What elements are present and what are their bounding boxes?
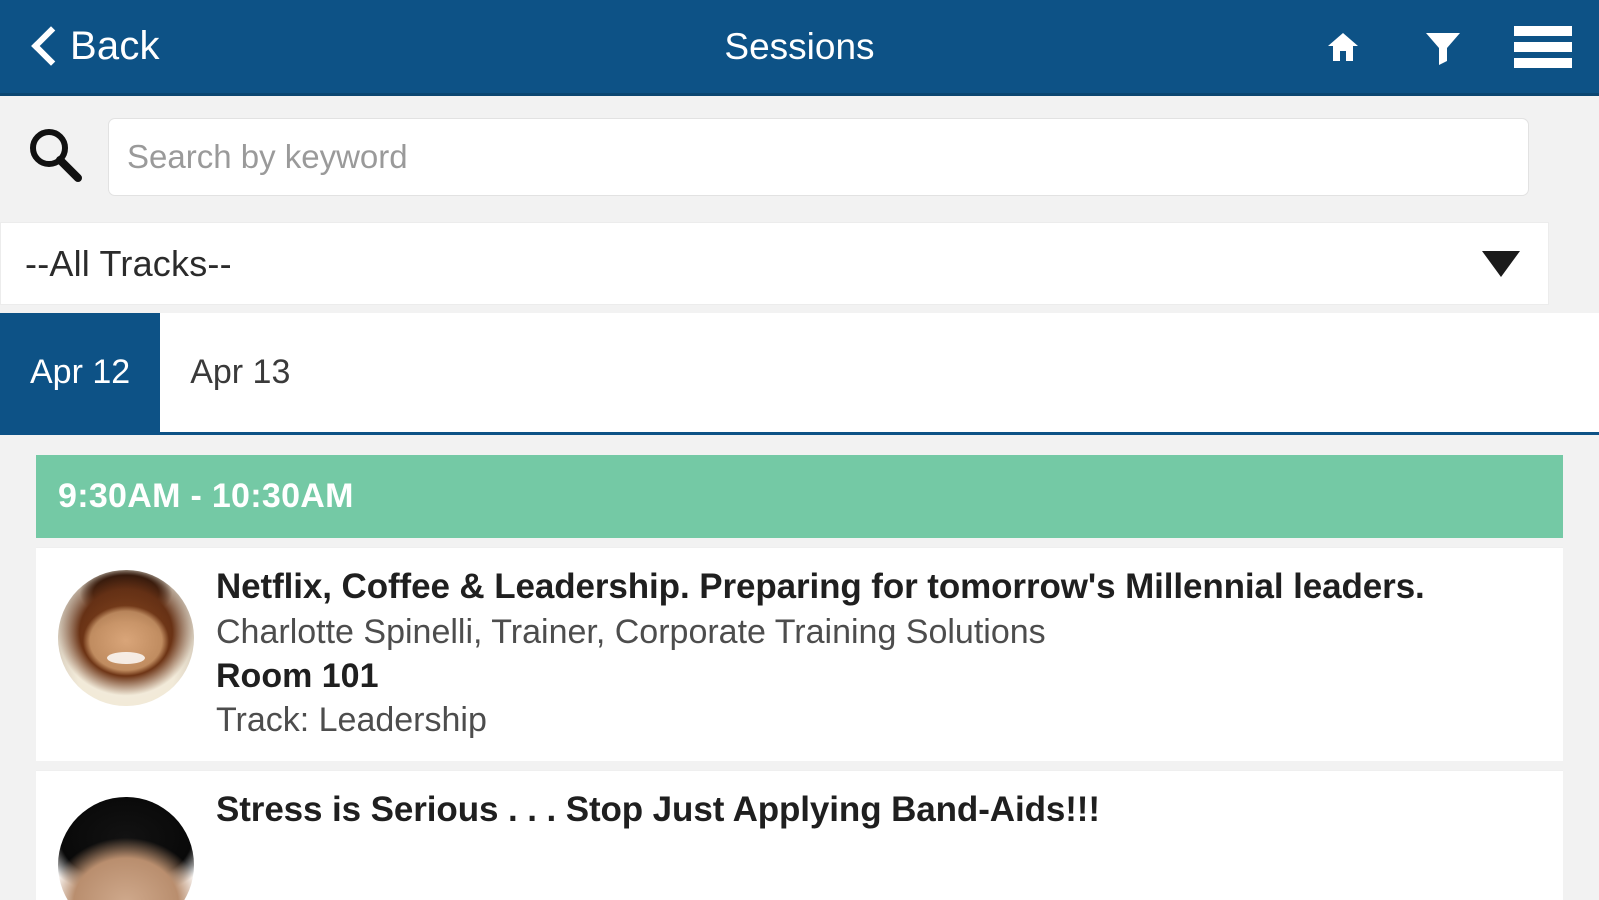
avatar-container xyxy=(36,564,216,741)
session-list: 9:30AM - 10:30AM Netflix, Coffee & Leade… xyxy=(0,436,1599,900)
chevron-down-icon xyxy=(1482,251,1520,277)
session-time-band: 9:30AM - 10:30AM xyxy=(36,455,1563,538)
home-button[interactable] xyxy=(1321,23,1365,71)
search-input[interactable] xyxy=(127,138,1510,176)
home-icon xyxy=(1326,31,1360,63)
date-tab-label: Apr 12 xyxy=(30,353,130,392)
session-speaker: Charlotte Spinelli, Trainer, Corporate T… xyxy=(216,611,1533,653)
track-filter-select[interactable]: --All Tracks-- xyxy=(0,222,1549,305)
session-track: Track: Leadership xyxy=(216,699,1533,741)
search-bar xyxy=(0,99,1599,214)
session-details: Stress is Serious . . . Stop Just Applyi… xyxy=(216,787,1563,900)
speaker-avatar xyxy=(58,570,194,706)
search-input-wrapper[interactable] xyxy=(108,118,1529,196)
date-tab-label: Apr 13 xyxy=(190,353,290,392)
avatar-container xyxy=(36,787,216,900)
session-room: Room 101 xyxy=(216,655,1533,697)
session-list-item[interactable]: Stress is Serious . . . Stop Just Applyi… xyxy=(36,770,1563,900)
session-list-item[interactable]: Netflix, Coffee & Leadership. Preparing … xyxy=(36,547,1563,761)
date-tab-bar: Apr 12 Apr 13 xyxy=(0,313,1599,435)
session-title: Stress is Serious . . . Stop Just Applyi… xyxy=(216,789,1533,832)
back-button-label: Back xyxy=(70,24,160,69)
speaker-avatar xyxy=(58,797,194,900)
session-title: Netflix, Coffee & Leadership. Preparing … xyxy=(216,566,1533,609)
track-filter-value: --All Tracks-- xyxy=(25,243,232,285)
navbar-actions xyxy=(1321,23,1565,71)
session-details: Netflix, Coffee & Leadership. Preparing … xyxy=(216,564,1563,741)
sessions-screen: Back Sessions xyxy=(0,0,1599,900)
date-tab-apr-12[interactable]: Apr 12 xyxy=(0,313,160,432)
session-time-label: 9:30AM - 10:30AM xyxy=(58,477,354,516)
back-button[interactable]: Back xyxy=(30,24,160,69)
date-tab-apr-13[interactable]: Apr 13 xyxy=(160,313,320,432)
menu-button[interactable] xyxy=(1521,23,1565,71)
search-button[interactable] xyxy=(0,125,108,188)
filter-icon xyxy=(1424,29,1462,65)
hamburger-menu-icon xyxy=(1514,25,1572,69)
filter-button[interactable] xyxy=(1421,23,1465,71)
chevron-left-icon xyxy=(30,26,56,68)
search-icon xyxy=(25,125,83,188)
top-navbar: Back Sessions xyxy=(0,0,1599,96)
